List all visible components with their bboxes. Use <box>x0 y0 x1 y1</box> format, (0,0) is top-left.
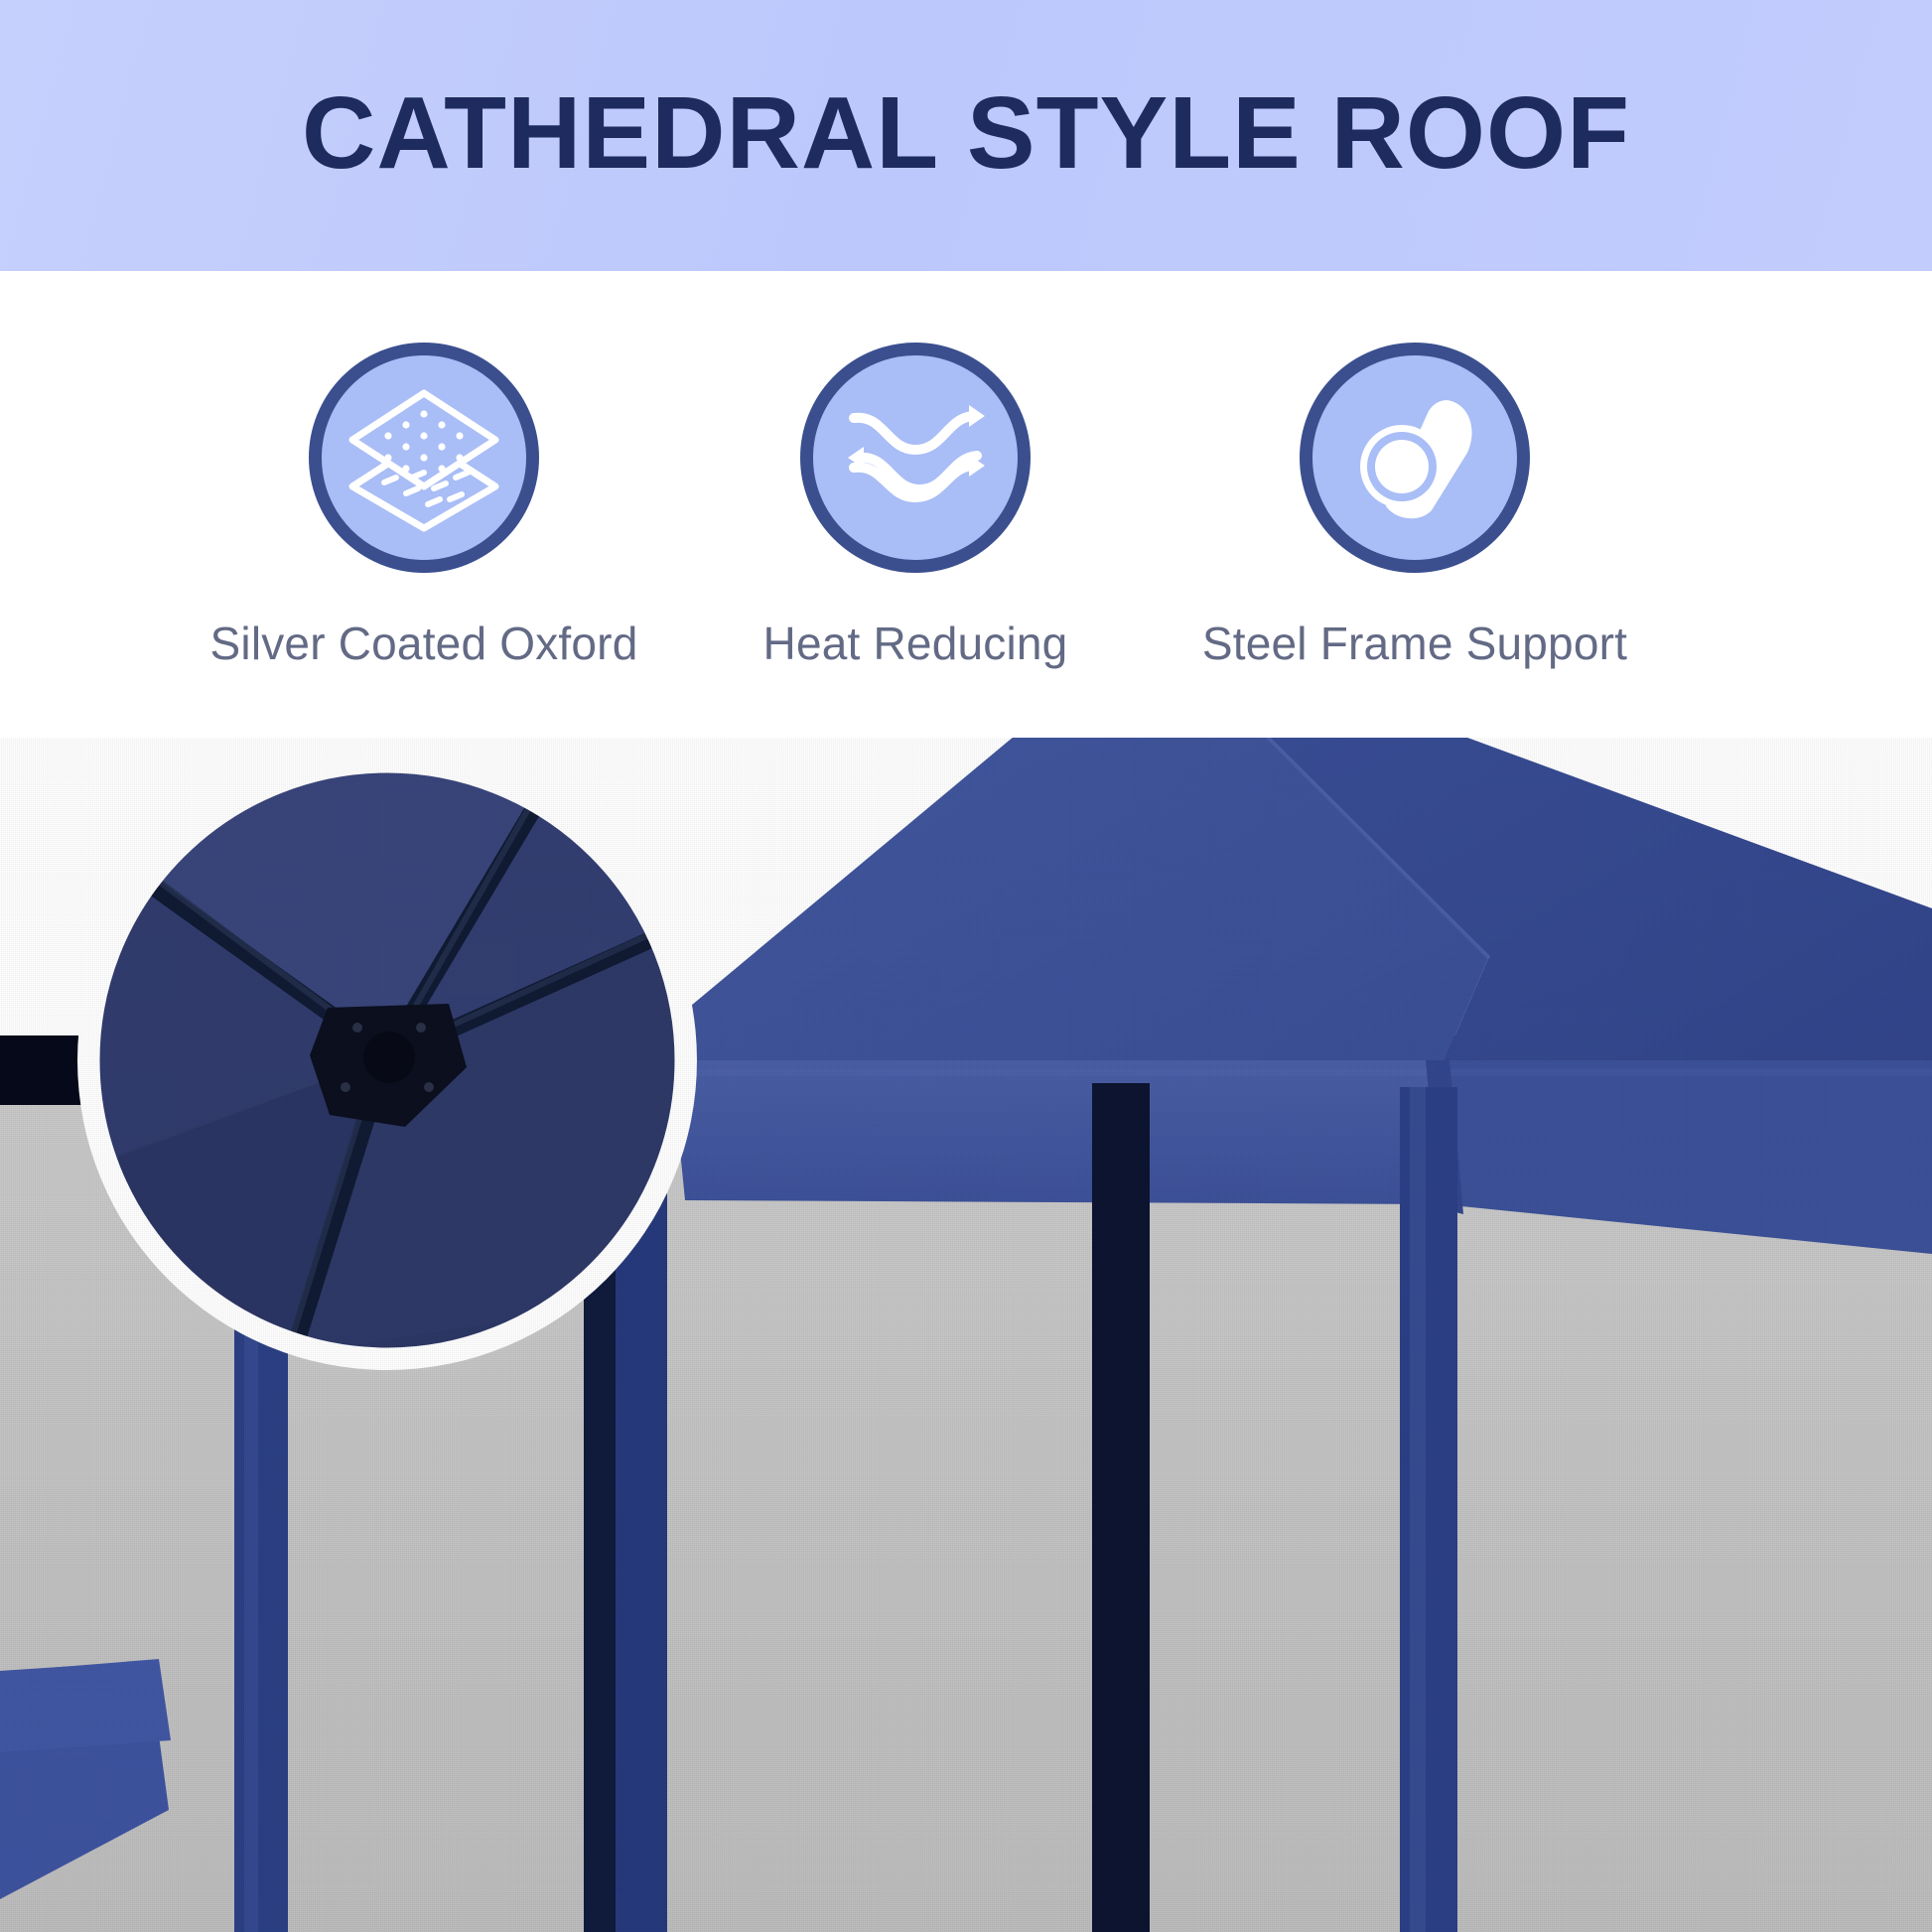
feature-label: Heat Reducing <box>682 617 1149 670</box>
product-photo <box>0 738 1932 1932</box>
feature-label: Steel Frame Support <box>1181 617 1648 670</box>
feature-icon-circle <box>800 343 1031 573</box>
feature-item-steel-frame-support: Steel Frame Support <box>1181 271 1648 670</box>
feature-row: Silver Coated Oxford <box>0 271 1932 738</box>
steel-tube-icon <box>1340 383 1489 532</box>
gazebo-illustration <box>0 738 1932 1932</box>
page-title: CATHEDRAL STYLE ROOF <box>0 0 1932 271</box>
infographic-page: CATHEDRAL STYLE ROOF <box>0 0 1932 1932</box>
airflow-waves-icon <box>836 388 995 527</box>
canopy-roof <box>655 738 1932 1095</box>
feature-label: Silver Coated Oxford <box>191 617 657 670</box>
feature-item-silver-coated-oxford: Silver Coated Oxford <box>191 271 657 670</box>
layered-fabric-icon <box>345 383 503 532</box>
roof-peak-detail-inset <box>77 751 697 1370</box>
canopy-rear-left-valance <box>0 1659 171 1752</box>
feature-icon-circle <box>1300 343 1530 573</box>
header-band: CATHEDRAL STYLE ROOF <box>0 0 1932 271</box>
feature-item-heat-reducing: Heat Reducing <box>682 271 1149 670</box>
feature-icon-circle <box>309 343 539 573</box>
